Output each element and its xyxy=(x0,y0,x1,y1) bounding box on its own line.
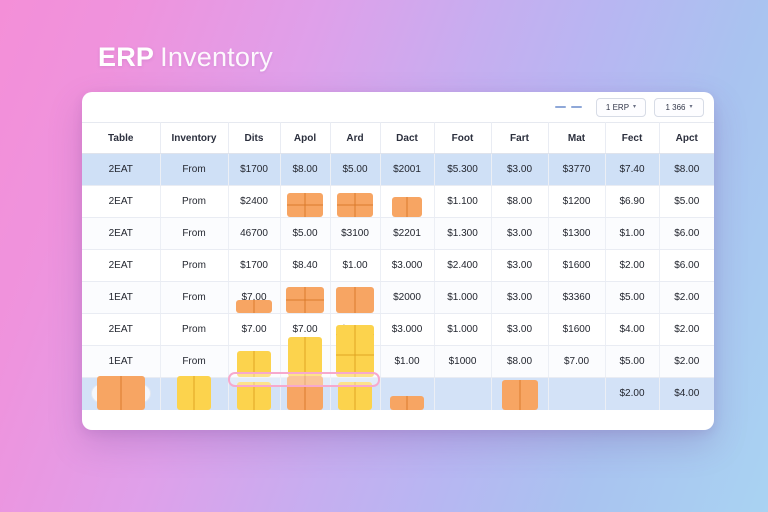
cell-value: $3100 xyxy=(341,324,369,335)
table-row[interactable]: EEAT▾$3.00$2.00$4.00 xyxy=(82,378,714,410)
table-cell[interactable]: $2201 xyxy=(380,218,434,250)
table-cell[interactable]: $6.00 xyxy=(659,250,714,282)
cell-value: $2.00 xyxy=(674,356,699,367)
cell-value: Prom xyxy=(182,196,206,207)
table-cell[interactable]: $1.00 xyxy=(605,218,659,250)
page-title-light: Inventory xyxy=(160,42,273,72)
inventory-table: TableInventoryDitsApolArdDactFootFartMat… xyxy=(82,122,714,410)
table-cell[interactable]: 2EAT xyxy=(82,314,160,346)
cell-value: $7.00 xyxy=(292,324,317,335)
table-cell[interactable]: $1200 xyxy=(548,186,605,218)
table-cell[interactable]: $2400 xyxy=(228,186,280,218)
table-cell[interactable]: $2.00 xyxy=(605,378,659,410)
cell-value: Prom xyxy=(182,324,206,335)
table-cell[interactable]: $5.00 xyxy=(280,218,330,250)
cell-value: From xyxy=(182,228,205,239)
table-cell[interactable]: EEAT▾ xyxy=(82,378,160,410)
selection-bracket xyxy=(228,372,380,387)
cell-value: $3.000 xyxy=(392,324,423,335)
cell-value: 2EAT xyxy=(109,324,133,335)
row-badge-label: EEAT xyxy=(111,389,134,399)
table-row[interactable]: 2EATProm$1700$8.40$1.00$3.000$2.400$3.00… xyxy=(82,250,714,282)
table-cell[interactable]: $4.00 xyxy=(605,314,659,346)
column-header-6[interactable]: Foot xyxy=(434,123,491,154)
cell-value: $8.40 xyxy=(292,260,317,271)
table-cell[interactable]: $2.00 xyxy=(605,250,659,282)
inventory-block-orange xyxy=(337,193,373,217)
page-title: ERPInventory xyxy=(98,42,273,73)
cell-value: $8.00 xyxy=(507,356,532,367)
inventory-block-yellow xyxy=(177,376,211,410)
inventory-block-orange xyxy=(390,396,424,410)
table-cell[interactable]: $8.00 xyxy=(491,186,548,218)
table-cell[interactable]: Prom xyxy=(160,250,228,282)
table-cell[interactable]: $5.00 xyxy=(330,154,380,186)
cell-value: $1200 xyxy=(563,196,591,207)
table-cell[interactable]: $7.00 xyxy=(228,314,280,346)
cell-value: 1EAT xyxy=(109,292,133,303)
cell-value: $2201 xyxy=(393,228,421,239)
cell-value: $3.00 xyxy=(507,164,532,175)
page-title-strong: ERP xyxy=(98,42,154,72)
cell-value: $7.00 xyxy=(564,356,589,367)
cell-value: Prom xyxy=(182,260,206,271)
table-cell[interactable]: 2EAT xyxy=(82,250,160,282)
table-cell[interactable]: $2001 xyxy=(380,154,434,186)
cell-value: $8.00 xyxy=(507,196,532,207)
cell-value: $5.00 xyxy=(619,292,644,303)
cell-value: From xyxy=(182,292,205,303)
table-cell[interactable]: $2.00 xyxy=(659,282,714,314)
block-divider-icon xyxy=(336,354,374,356)
cell-value: $8.00 xyxy=(292,164,317,175)
table-cell[interactable]: $6.90 xyxy=(605,186,659,218)
table-cell[interactable]: 46700 xyxy=(228,218,280,250)
block-divider-icon xyxy=(406,396,408,410)
inventory-block-orange xyxy=(286,287,324,313)
cell-value: $5.00 xyxy=(342,164,367,175)
table-cell[interactable]: $3.00 xyxy=(491,154,548,186)
cell-value: $2000 xyxy=(393,292,421,303)
inventory-block-wrap xyxy=(281,287,330,313)
column-header-4[interactable]: Ard xyxy=(330,123,380,154)
table-cell[interactable]: $8.00 xyxy=(491,346,548,378)
cell-value: $3.00 xyxy=(507,292,532,303)
table-cell[interactable]: $1.000 xyxy=(434,314,491,346)
inventory-block-orange xyxy=(336,287,374,313)
row-badge[interactable]: EEAT▾ xyxy=(91,384,151,403)
status-dot-icon xyxy=(100,391,106,397)
table-cell[interactable]: 2EAT xyxy=(82,154,160,186)
table-cell[interactable]: $2.00 xyxy=(659,346,714,378)
toolbar-dropdown-count-label: 1 366 xyxy=(665,103,685,112)
card-toolbar: 1 ERP ▾ 1 366 ▾ xyxy=(82,92,714,122)
table-cell[interactable]: $2.400 xyxy=(434,250,491,282)
block-divider-icon xyxy=(354,287,356,313)
cell-value: $2400 xyxy=(240,196,268,207)
table-cell[interactable]: From xyxy=(160,154,228,186)
table-cell[interactable]: From xyxy=(160,218,228,250)
cell-value: $3.000 xyxy=(392,260,423,271)
column-header-0[interactable]: Table xyxy=(82,123,160,154)
block-divider-icon xyxy=(304,287,306,313)
table-cell[interactable]: $2000 xyxy=(380,282,434,314)
cell-value: $2.00 xyxy=(619,260,644,271)
table-cell[interactable]: $3770 xyxy=(548,154,605,186)
table-cell[interactable]: $5.00 xyxy=(659,186,714,218)
cell-value: $1.00 xyxy=(342,260,367,271)
table-cell[interactable]: $8.40 xyxy=(280,250,330,282)
table-cell[interactable]: $7.00 xyxy=(228,282,280,314)
dash-icon xyxy=(571,106,582,108)
inventory-block-wrap xyxy=(161,376,228,410)
table-cell[interactable]: $7.00 xyxy=(280,314,330,346)
cell-value: $5.300 xyxy=(447,164,478,175)
inventory-block-orange xyxy=(392,197,422,217)
table-cell[interactable]: $5.300 xyxy=(434,154,491,186)
table-cell[interactable]: $3.00 xyxy=(491,218,548,250)
table-cell[interactable]: $3100 xyxy=(330,314,380,346)
cell-value: $3.00 xyxy=(507,388,532,399)
block-divider-icon xyxy=(287,204,323,206)
cell-value: $1.300 xyxy=(447,228,478,239)
table-row[interactable]: 2EATFrom$1700$8.00$5.00$2001$5.300$3.00$… xyxy=(82,154,714,186)
block-divider-icon xyxy=(193,376,195,410)
cell-value: $2.00 xyxy=(674,292,699,303)
table-cell[interactable]: $3100 xyxy=(330,218,380,250)
cell-value: $5.00 xyxy=(619,356,644,367)
cell-value: $1600 xyxy=(563,260,591,271)
table-header-row: TableInventoryDitsApolArdDactFootFartMat… xyxy=(82,123,714,154)
table-cell[interactable]: 1EAT xyxy=(82,346,160,378)
cell-value: From xyxy=(182,164,205,175)
block-divider-icon xyxy=(286,299,324,301)
cell-value: $1300 xyxy=(563,228,591,239)
table-cell[interactable]: $1.300 xyxy=(434,218,491,250)
table-cell[interactable]: $2.00 xyxy=(659,314,714,346)
cell-value: $2.00 xyxy=(674,324,699,335)
table-cell[interactable]: $1700 xyxy=(228,250,280,282)
column-header-7[interactable]: Fart xyxy=(491,123,548,154)
table-cell[interactable]: 2EAT xyxy=(82,218,160,250)
table-cell[interactable]: $1.100 xyxy=(434,186,491,218)
cell-value: 2EAT xyxy=(109,196,133,207)
cell-value: $2001 xyxy=(393,164,421,175)
inventory-block-wrap xyxy=(281,193,330,217)
table-cell[interactable]: $1600 xyxy=(548,250,605,282)
cell-value: $2.400 xyxy=(447,260,478,271)
cell-value: $1000 xyxy=(449,356,477,367)
table-body: 2EATFrom$1700$8.00$5.00$2001$5.300$3.00$… xyxy=(82,154,714,410)
dash-icon-group xyxy=(555,106,582,108)
table-cell[interactable]: Prom xyxy=(160,186,228,218)
chevron-down-icon: ▾ xyxy=(633,104,636,110)
table-cell[interactable]: $8.00 xyxy=(280,154,330,186)
table-cell[interactable]: $1.00 xyxy=(380,346,434,378)
table-cell[interactable]: 1EAT xyxy=(82,282,160,314)
column-header-3[interactable]: Apol xyxy=(280,123,330,154)
table-cell[interactable]: $1.000 xyxy=(434,282,491,314)
cell-value: $3100 xyxy=(341,228,369,239)
column-header-9[interactable]: Fect xyxy=(605,123,659,154)
chevron-down-icon: ▾ xyxy=(139,390,142,397)
table-cell[interactable]: $1600 xyxy=(548,314,605,346)
table-cell[interactable]: $3360 xyxy=(548,282,605,314)
inventory-card: 1 ERP ▾ 1 366 ▾ TableInventoryDitsApolAr… xyxy=(82,92,714,430)
toolbar-dropdown-erp-label: 1 ERP xyxy=(606,103,629,112)
table-cell[interactable] xyxy=(434,378,491,410)
cell-value: $6.00 xyxy=(674,228,699,239)
table-cell[interactable] xyxy=(160,378,228,410)
cell-value: $1.000 xyxy=(447,292,478,303)
block-divider-icon xyxy=(337,204,373,206)
table-row[interactable]: 2EATFrom46700$5.00$3100$2201$1.300$3.00$… xyxy=(82,218,714,250)
cell-value: $6.00 xyxy=(674,260,699,271)
cell-value: $1.00 xyxy=(394,356,419,367)
table-cell[interactable] xyxy=(380,378,434,410)
cell-value: $3.00 xyxy=(507,228,532,239)
table-row[interactable]: 2EATProm$2400$1.100$8.00$1200$6.90$5.00 xyxy=(82,186,714,218)
table-cell[interactable]: $8.00 xyxy=(659,154,714,186)
cell-value: $1700 xyxy=(240,164,268,175)
cell-value: $1.000 xyxy=(447,324,478,335)
table-cell[interactable]: $5.00 xyxy=(605,282,659,314)
table-header: TableInventoryDitsApolArdDactFootFartMat… xyxy=(82,123,714,154)
cell-value: $3.00 xyxy=(507,324,532,335)
toolbar-dropdown-erp[interactable]: 1 ERP ▾ xyxy=(596,98,646,117)
table-cell[interactable]: $7.40 xyxy=(605,154,659,186)
cell-value: $4.00 xyxy=(619,324,644,335)
table-cell[interactable]: Prom xyxy=(160,314,228,346)
table-cell[interactable]: $6.00 xyxy=(659,218,714,250)
cell-value: $5.00 xyxy=(674,196,699,207)
cell-value: 1EAT xyxy=(109,356,133,367)
inventory-block-orange xyxy=(287,193,323,217)
table-cell[interactable] xyxy=(330,186,380,218)
inventory-block-wrap xyxy=(381,396,434,410)
cell-value: $1.100 xyxy=(447,196,478,207)
cell-value: $3360 xyxy=(563,292,591,303)
table-cell[interactable]: $1.00 xyxy=(330,250,380,282)
inventory-block-wrap xyxy=(381,197,434,217)
cell-value: $3.00 xyxy=(507,260,532,271)
block-divider-icon xyxy=(354,193,356,217)
table-cell[interactable]: From xyxy=(160,346,228,378)
cell-value: From xyxy=(182,356,205,367)
table-cell[interactable]: $7.00 xyxy=(548,346,605,378)
block-divider-icon xyxy=(304,193,306,217)
table-cell[interactable]: $3.00 xyxy=(491,250,548,282)
column-header-8[interactable]: Mat xyxy=(548,123,605,154)
table-cell[interactable]: $3.000 xyxy=(380,250,434,282)
cell-value: $5.00 xyxy=(292,228,317,239)
dash-icon xyxy=(555,106,566,108)
table-cell[interactable] xyxy=(330,282,380,314)
table-cell[interactable]: $1000 xyxy=(434,346,491,378)
cell-value: $1700 xyxy=(240,260,268,271)
cell-value: $1600 xyxy=(563,324,591,335)
table-cell[interactable]: $1300 xyxy=(548,218,605,250)
column-header-10[interactable]: Apct xyxy=(659,123,714,154)
block-divider-icon xyxy=(406,197,408,217)
chevron-down-icon: ▾ xyxy=(690,104,693,110)
cell-value: $2.00 xyxy=(619,388,644,399)
cell-value: $7.40 xyxy=(619,164,644,175)
column-header-5[interactable]: Dact xyxy=(380,123,434,154)
cell-value: $6.90 xyxy=(619,196,644,207)
inventory-block-wrap xyxy=(331,193,380,217)
cell-value: $8.00 xyxy=(674,164,699,175)
table-cell[interactable]: $1700 xyxy=(228,154,280,186)
table-cell[interactable]: $3.00 xyxy=(491,282,548,314)
table-cell[interactable]: $3.000 xyxy=(380,314,434,346)
table-cell[interactable]: $5.00 xyxy=(605,346,659,378)
cell-value: 46700 xyxy=(240,228,268,239)
table-cell[interactable]: $3.00 xyxy=(491,314,548,346)
column-header-2[interactable]: Dits xyxy=(228,123,280,154)
column-header-1[interactable]: Inventory xyxy=(160,123,228,154)
table-cell[interactable]: $3.00 xyxy=(491,378,548,410)
toolbar-dropdown-count[interactable]: 1 366 ▾ xyxy=(654,98,704,117)
cell-value: $1.00 xyxy=(619,228,644,239)
cell-value: $7.00 xyxy=(241,292,266,303)
cell-value: $4.00 xyxy=(674,388,699,399)
table-cell[interactable] xyxy=(548,378,605,410)
table-cell[interactable] xyxy=(280,186,330,218)
table-cell[interactable]: From xyxy=(160,282,228,314)
table-cell[interactable]: 2EAT xyxy=(82,186,160,218)
table-row[interactable]: 1EATFrom$7.00$2000$1.000$3.00$3360$5.00$… xyxy=(82,282,714,314)
cell-value: 2EAT xyxy=(109,260,133,271)
table-row[interactable]: 2EATProm$7.00$7.00$3100$3.000$1.000$3.00… xyxy=(82,314,714,346)
table-row[interactable]: 1EATFrom$1.00$1000$8.00$7.00$5.00$2.00 xyxy=(82,346,714,378)
cell-value: $3770 xyxy=(563,164,591,175)
table-cell[interactable] xyxy=(380,186,434,218)
cell-value: 2EAT xyxy=(109,228,133,239)
cell-value: 2EAT xyxy=(109,164,133,175)
cell-value: $7.00 xyxy=(241,324,266,335)
inventory-block-wrap xyxy=(331,287,380,313)
table-cell[interactable]: $4.00 xyxy=(659,378,714,410)
table-cell[interactable] xyxy=(280,282,330,314)
